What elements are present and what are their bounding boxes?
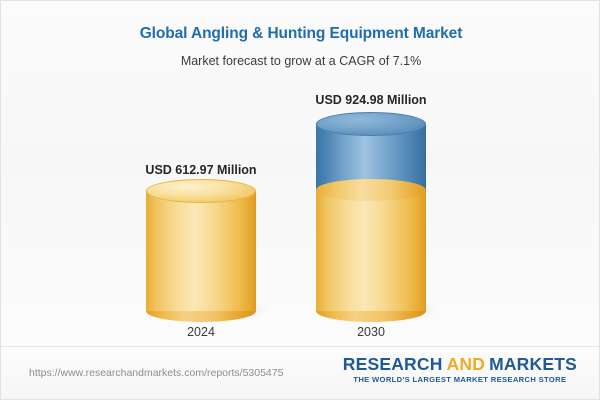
chart-plot-area: USD 612.97 Million 2024 USD 924.98 Milli… [1, 89, 600, 339]
bar-cylinder-2030[interactable] [316, 112, 426, 311]
logo-wordmark: RESEARCHANDMARKETS [343, 355, 577, 373]
bar-body-2030-base-yellow [316, 191, 426, 311]
bar-top-ellipse-2024 [146, 179, 256, 203]
logo-word-research: RESEARCH [343, 354, 443, 374]
report-url-link[interactable]: https://www.researchandmarkets.com/repor… [29, 367, 283, 379]
category-label-2024: 2024 [111, 325, 291, 339]
research-and-markets-logo[interactable]: RESEARCHANDMARKETS THE WORLD'S LARGEST M… [343, 355, 577, 384]
logo-tagline: THE WORLD'S LARGEST MARKET RESEARCH STOR… [343, 375, 577, 384]
chart-subtitle: Market forecast to grow at a CAGR of 7.1… [1, 43, 600, 68]
logo-word-and: AND [447, 354, 486, 374]
category-label-2030: 2030 [281, 325, 461, 339]
footer-bar: https://www.researchandmarkets.com/repor… [1, 346, 599, 399]
chart-header: Global Angling & Hunting Equipment Marke… [1, 1, 600, 68]
bar-segment-divider-2030 [316, 179, 426, 201]
logo-word-markets: MARKETS [489, 354, 577, 374]
bar-cylinder-2024[interactable] [146, 179, 256, 311]
data-label-2024: USD 612.97 Million [111, 163, 291, 177]
bar-body-2024-yellow [146, 191, 256, 311]
bar-top-ellipse-2030 [316, 112, 426, 136]
data-label-2030: USD 924.98 Million [281, 93, 461, 107]
market-forecast-infographic: Global Angling & Hunting Equipment Marke… [0, 0, 600, 400]
chart-title: Global Angling & Hunting Equipment Marke… [1, 1, 600, 43]
